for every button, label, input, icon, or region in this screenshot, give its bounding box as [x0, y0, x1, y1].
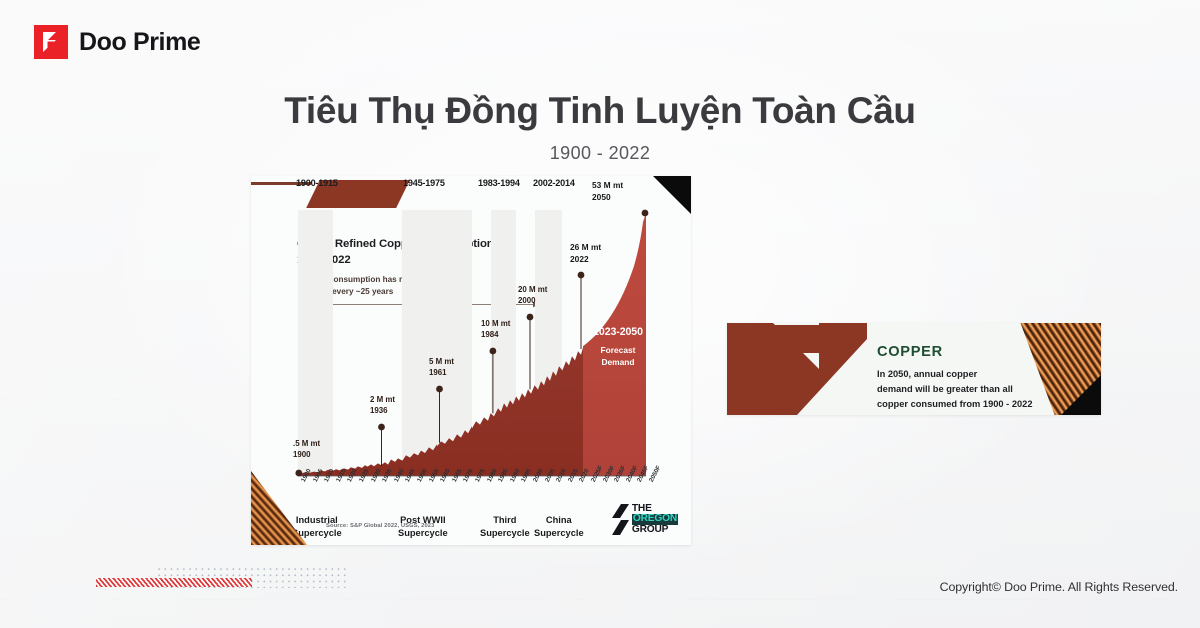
red-stripe-decoration — [96, 578, 252, 587]
plot-area: 1900-1915 1945-1975 1983-1994 2002-2014 … — [298, 210, 646, 476]
annotation-2050: 53 M mt 2050 — [592, 180, 623, 204]
cycle-label-third: ThirdSupercycle — [480, 514, 530, 540]
doo-prime-logo-icon — [34, 25, 68, 59]
chart-source: Source: S&P Global 2022, USGS, 2023 — [326, 523, 434, 529]
chart-figure: Global Refined Copper Consumption 1900-2… — [251, 176, 691, 545]
forecast-block-label: 2023-2050 Forecast Demand — [588, 326, 648, 368]
annotation-2022: 26 M mt 2022 — [570, 242, 601, 266]
cycle-label-china: ChinaSupercycle — [534, 514, 584, 540]
page-title: Tiêu Thụ Đồng Tinh Luyện Toàn Cầu — [0, 90, 1200, 133]
poster-canvas: Doo Prime Tiêu Thụ Đồng Tinh Luyện Toàn … — [0, 0, 1200, 628]
oregon-line3: GROUP — [632, 525, 678, 535]
period-label-third: 1983-1994 — [478, 178, 520, 188]
page-subtitle: 1900 - 2022 — [0, 143, 1200, 164]
callout-text: In 2050, annual copper demand will be gr… — [877, 367, 1033, 412]
callout-text-line3: copper consumed from 1900 - 2022 — [877, 397, 1033, 412]
copper-callout-card: COPPER In 2050, annual copper demand wil… — [727, 323, 1101, 415]
callout-text-line1: In 2050, annual copper — [877, 367, 1033, 382]
chart-card: Global Refined Copper Consumption 1900-2… — [251, 176, 691, 545]
callout-body: COPPER In 2050, annual copper demand wil… — [877, 344, 1033, 412]
brand-logo[interactable]: Doo Prime — [34, 25, 200, 59]
brand-name: Doo Prime — [79, 30, 200, 55]
oregon-slash-icon — [612, 504, 629, 535]
callout-text-line2: demand will be greater than all — [877, 382, 1033, 397]
period-label-industrial: 1900-1915 — [296, 178, 338, 188]
annotation-2000: 20 M mt 2000 — [518, 284, 547, 307]
oregon-group-logo: THE OREGON GROUP — [612, 504, 678, 535]
annotation-1900: .5 M mt 1900 — [293, 438, 320, 461]
period-label-post-wwii: 1945-1975 — [403, 178, 445, 188]
annotation-1961: 5 M mt 1961 — [429, 356, 454, 379]
callout-heading: COPPER — [877, 344, 1033, 360]
callout-chevron-decoration — [727, 323, 867, 415]
copyright-text: Copyright© Doo Prime. All Rights Reserve… — [940, 580, 1178, 594]
period-label-china: 2002-2014 — [533, 178, 575, 188]
annotation-1984: 10 M mt 1984 — [481, 318, 510, 341]
callout-corner-triangle — [1061, 375, 1101, 415]
annotation-1936: 2 M mt 1936 — [370, 394, 395, 417]
